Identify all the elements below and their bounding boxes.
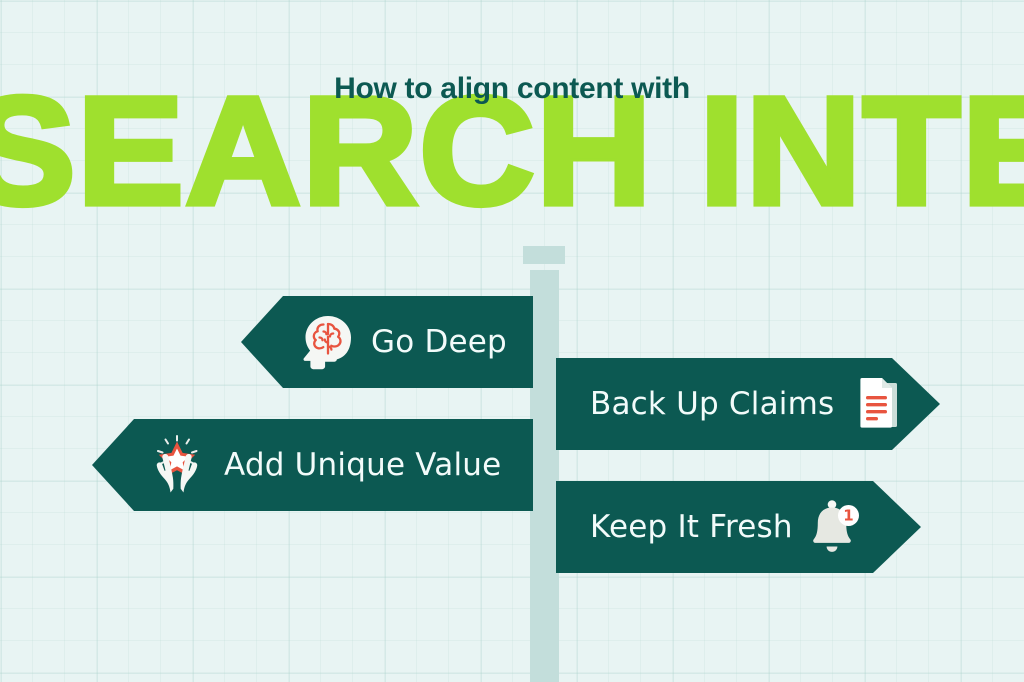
document-pages-icon: [848, 373, 906, 435]
sign-label-add-unique-value: Add Unique Value: [224, 448, 501, 482]
signpost-pole: [530, 270, 559, 682]
signpost-pole-cap: [523, 246, 565, 264]
sign-add-unique-value[interactable]: Add Unique Value: [92, 419, 533, 511]
notification-bell-icon: 1: [805, 496, 863, 558]
sign-go-deep[interactable]: Go Deep: [241, 296, 533, 388]
sign-keep-it-fresh[interactable]: Keep It Fresh 1: [556, 481, 921, 573]
hands-star-icon: [148, 434, 206, 496]
sign-back-up-claims[interactable]: Back Up Claims: [556, 358, 940, 450]
headline-overline: How to align content with: [0, 74, 1024, 104]
sign-label-back-up-claims: Back Up Claims: [590, 387, 834, 421]
infographic-canvas: SEARCH INTENT? How to align content with…: [0, 0, 1024, 682]
sign-label-go-deep: Go Deep: [371, 325, 507, 359]
sign-label-keep-it-fresh: Keep It Fresh: [590, 510, 793, 544]
head-brain-icon: [297, 311, 355, 373]
bell-badge-count: 1: [843, 507, 853, 525]
